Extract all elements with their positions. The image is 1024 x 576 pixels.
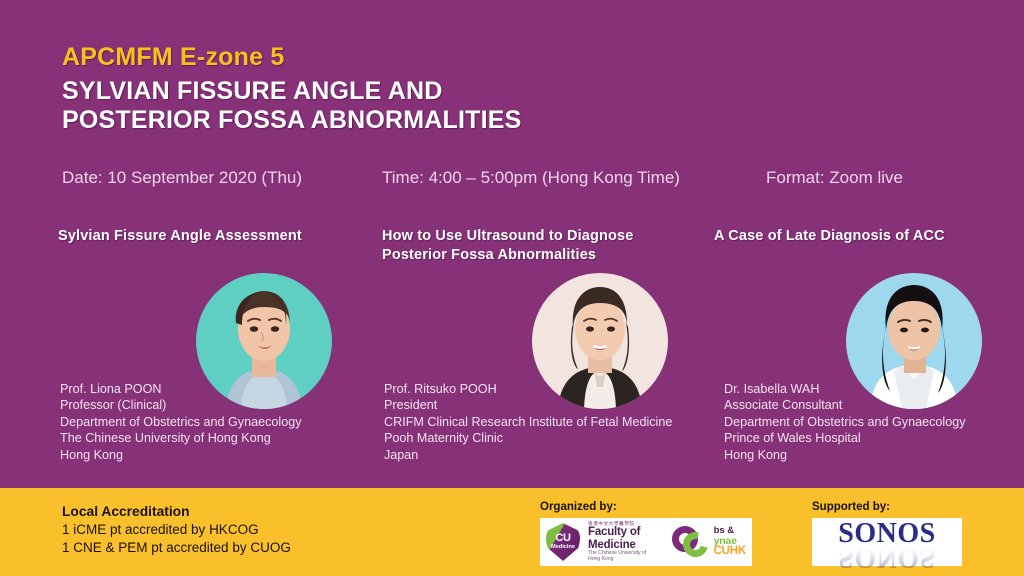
series-label: APCMFM E-zone 5 <box>62 42 522 72</box>
speaker-department-3: Department of Obstetrics and Gynaecology <box>724 414 1024 430</box>
poster-footer: Local Accreditation 1 iCME pt accredited… <box>0 488 1024 576</box>
speaker-location-3: Hong Kong <box>724 447 1024 463</box>
title-line-2: POSTERIOR FOSSA ABNORMALITIES <box>62 106 522 135</box>
obs-gynae-line-3: CUHK <box>714 546 746 558</box>
speaker-bio-1: Prof. Liona POON Professor (Clinical) De… <box>60 381 380 463</box>
speaker-bio-3: Dr. Isabella WAH Associate Consultant De… <box>724 381 1024 463</box>
sonos-logo: SONOS SONOS <box>821 520 953 564</box>
talk-title-1: Sylvian Fissure Angle Assessment <box>58 227 368 246</box>
speaker-role-1: Professor (Clinical) <box>60 397 380 413</box>
talk-title-2: How to Use Ultrasound to Diagnose Poster… <box>382 227 692 265</box>
speaker-institution-3: Prince of Wales Hospital <box>724 430 1024 446</box>
speaker-department-2: CRIFM Clinical Research Institute of Fet… <box>384 414 704 430</box>
webinar-poster: APCMFM E-zone 5 SYLVIAN FISSURE ANGLE AN… <box>0 0 1024 576</box>
speaker-card-3: A Case of Late Diagnosis of ACC <box>706 225 1024 470</box>
cu-medicine-wordmark: 香港中文大學醫學院 Faculty of Medicine The Chines… <box>588 522 658 563</box>
cu-mark-line-1: CU <box>555 533 570 544</box>
supported-by-label: Supported by: <box>812 500 962 514</box>
event-format: Format: Zoom live <box>766 167 903 189</box>
cu-medicine-logo-icon: CU Medicine <box>546 523 580 561</box>
cu-mark-line-2: Medicine <box>551 545 575 551</box>
speaker-location-2: Japan <box>384 447 704 463</box>
supporter-logos: SONOS SONOS <box>812 518 962 566</box>
speaker-name-3: Dr. Isabella WAH <box>724 381 1024 397</box>
page-title: SYLVIAN FISSURE ANGLE AND POSTERIOR FOSS… <box>62 77 522 135</box>
speaker-card-2: How to Use Ultrasound to Diagnose Poster… <box>382 225 712 470</box>
obs-gynae-mark-icon <box>672 525 712 559</box>
supporters-block: Supported by: SONOS SONOS <box>812 500 962 566</box>
organized-by-label: Organized by: <box>540 500 752 514</box>
obs-gynae-cuhk-logo: bs & ynae CUHK <box>672 525 746 559</box>
accreditation-line-1: 1 iCME pt accredited by HKCOG <box>62 521 291 539</box>
cu-english-name: Faculty of Medicine <box>588 526 658 551</box>
speaker-institution-1: The Chinese University of Hong Kong <box>60 430 380 446</box>
speaker-role-3: Associate Consultant <box>724 397 1024 413</box>
poster-header: APCMFM E-zone 5 SYLVIAN FISSURE ANGLE AN… <box>62 42 522 135</box>
speaker-department-1: Department of Obstetrics and Gynaecology <box>60 414 380 430</box>
cu-subtitle: The Chinese University of Hong Kong <box>588 551 658 562</box>
speaker-name-2: Prof. Ritsuko POOH <box>384 381 704 397</box>
speaker-location-1: Hong Kong <box>60 447 380 463</box>
speaker-name-1: Prof. Liona POON <box>60 381 380 397</box>
event-date: Date: 10 September 2020 (Thu) <box>62 167 302 189</box>
accreditation-line-2: 1 CNE & PEM pt accredited by CUOG <box>62 539 291 557</box>
sonos-wordmark-reflection: SONOS <box>821 544 953 570</box>
accreditation-heading: Local Accreditation <box>62 503 291 521</box>
speaker-role-2: President <box>384 397 704 413</box>
title-line-1: SYLVIAN FISSURE ANGLE AND <box>62 77 522 106</box>
obs-gynae-wordmark: bs & ynae CUHK <box>714 526 746 558</box>
organizer-logos: CU Medicine 香港中文大學醫學院 Faculty of Medicin… <box>540 518 752 566</box>
accreditation-block: Local Accreditation 1 iCME pt accredited… <box>62 503 291 557</box>
talk-title-3: A Case of Late Diagnosis of ACC <box>714 227 1014 246</box>
speaker-bio-2: Prof. Ritsuko POOH President CRIFM Clini… <box>384 381 704 463</box>
organizers-block: Organized by: CU Medicine 香港中文大學醫學院 Facu… <box>540 500 752 566</box>
speaker-list: Sylvian Fissure Angle Assessment <box>0 225 1024 470</box>
event-time: Time: 4:00 – 5:00pm (Hong Kong Time) <box>382 167 680 189</box>
speaker-institution-2: Pooh Maternity Clinic <box>384 430 704 446</box>
speaker-card-1: Sylvian Fissure Angle Assessment <box>58 225 388 470</box>
talk-title-2-line-2: Posterior Fossa Abnormalities <box>382 246 692 265</box>
talk-title-2-line-1: How to Use Ultrasound to Diagnose <box>382 227 692 246</box>
cu-mark-text: CU Medicine <box>546 523 580 561</box>
